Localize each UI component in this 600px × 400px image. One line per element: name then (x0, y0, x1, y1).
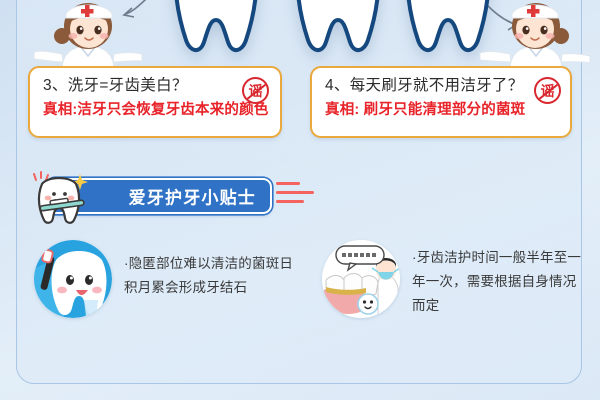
cartoon-tooth-holding-toothbrush-photo (34, 240, 112, 318)
tip-text: ·牙齿洁护时间一般半年至一年一次，需要根据自身情况而定 (412, 240, 584, 318)
smiling-tooth-with-toothbrush-icon (28, 168, 90, 226)
speed-line-1 (276, 182, 300, 185)
rumor-debunked-badge: 谣 (242, 77, 269, 104)
tooth-illustration-1 (168, 0, 264, 72)
myth-question: 4、每天刷牙就不用洁牙了？ (325, 76, 558, 96)
tips-banner-title: 爱牙护牙小贴士 (129, 184, 256, 209)
myth-card-4[interactable]: 4、每天刷牙就不用洁牙了？ 真相: 刷牙只能清理部分的菌斑 谣 (310, 66, 572, 138)
tips-banner: 爱牙护牙小贴士 (28, 173, 318, 221)
rumor-badge-label: 谣 (541, 81, 555, 101)
myth-question: 3、洗牙=牙齿美白？ (43, 76, 268, 96)
dentist-explaining-tartar-photo (322, 240, 400, 318)
myth-answer: 真相: 刷牙只能清理部分的菌斑 (325, 101, 558, 120)
top-decoration-band (0, 0, 600, 72)
speed-line-2 (276, 191, 314, 194)
nurse-character-left (32, 0, 150, 72)
speed-line-3 (276, 200, 304, 203)
myth-answer: 真相:洁牙只会恢复牙齿本来的颜色 (43, 101, 268, 120)
nurse-character-right (476, 0, 594, 72)
myth-card-3[interactable]: 3、洗牙=牙齿美白？ 真相:洁牙只会恢复牙齿本来的颜色 谣 (28, 66, 282, 138)
banner-speed-lines (276, 182, 314, 209)
myth-card-list: 3、洗牙=牙齿美白？ 真相:洁牙只会恢复牙齿本来的颜色 谣 4、每天刷牙就不用洁… (0, 66, 600, 146)
tip-text: ·隐匿部位难以清洁的菌斑日积月累会形成牙结石 (124, 240, 304, 300)
rumor-badge-label: 谣 (249, 81, 263, 101)
tip-item-1: ·隐匿部位难以清洁的菌斑日积月累会形成牙结石 (34, 240, 304, 318)
rumor-debunked-badge: 谣 (534, 77, 561, 104)
tip-item-2: ·牙齿洁护时间一般半年至一年一次，需要根据自身情况而定 (322, 240, 584, 318)
tooth-illustration-2 (290, 0, 386, 72)
